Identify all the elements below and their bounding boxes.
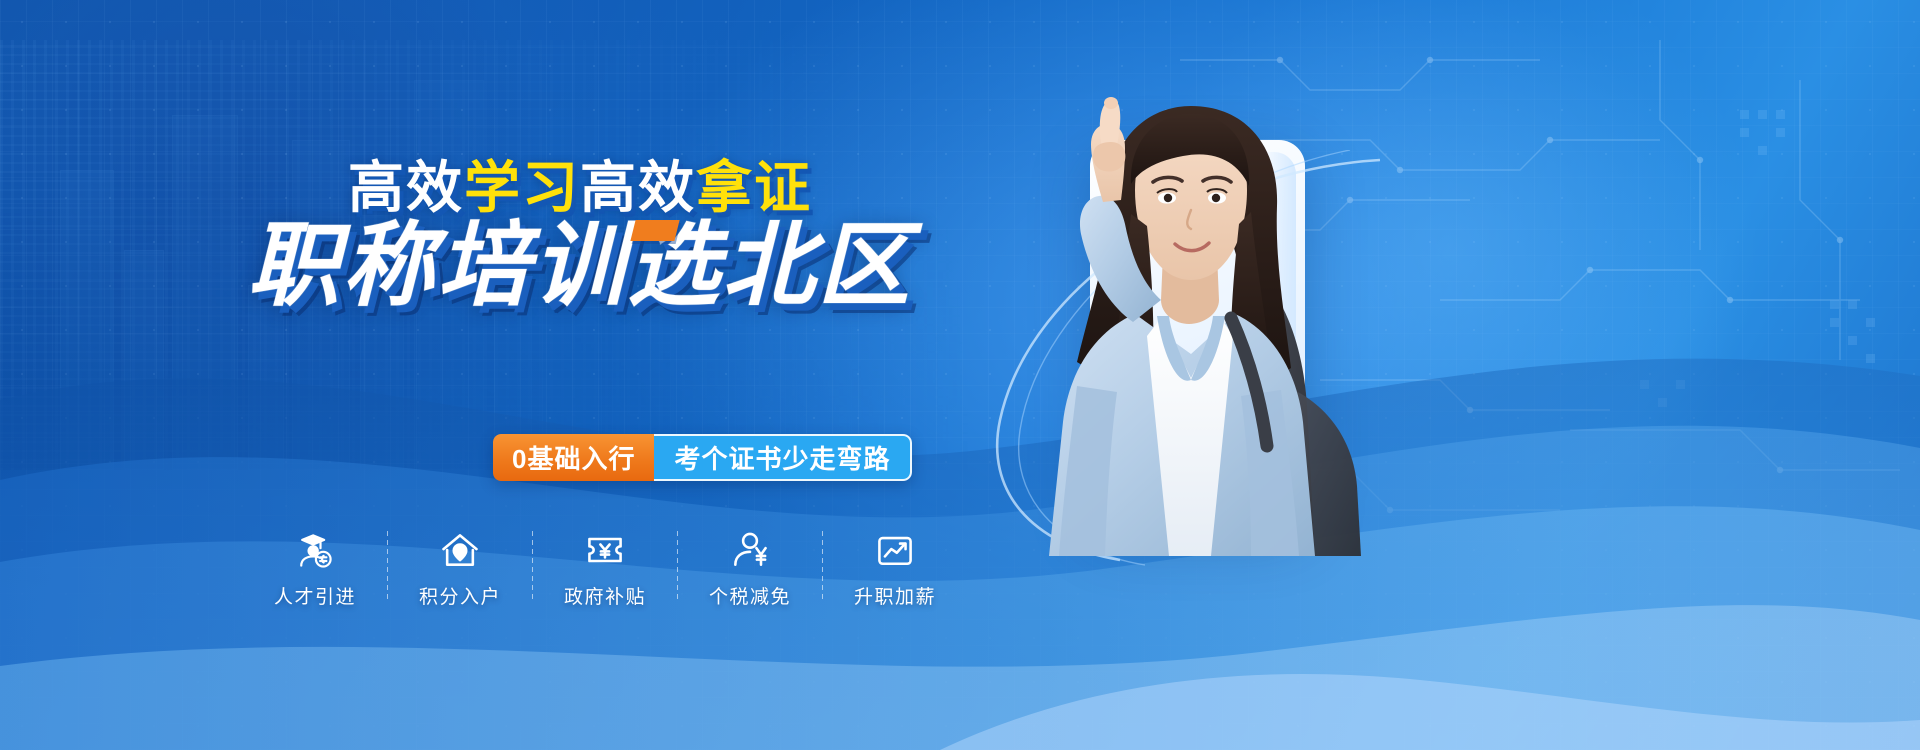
house-location-pin-icon (437, 527, 483, 573)
headline-block: 高效学习高效拿证 职称培训选北区 0基础入行 考个证书少走弯路 (0, 0, 1160, 750)
badge-tag: 0基础入行 (493, 434, 654, 481)
feature-item-0[interactable]: 人才引进 (255, 527, 375, 609)
feature-divider-2 (677, 531, 678, 603)
feature-item-3[interactable]: 个税减免 (690, 527, 810, 609)
headline-main-wrap: 职称培训选北区 (0, 218, 1160, 328)
orange-accent-mark (631, 220, 680, 241)
feature-divider-3 (822, 531, 823, 603)
headline-small-seg-2: 高效 (580, 156, 696, 219)
feature-item-1[interactable]: 积分入户 (400, 527, 520, 609)
feature-divider-0 (387, 531, 388, 603)
subtitle-badge[interactable]: 0基础入行 考个证书少走弯路 (493, 434, 912, 481)
feature-item-4[interactable]: 升职加薪 (835, 527, 955, 609)
feature-label-0: 人才引进 (274, 582, 356, 609)
headline-small-seg-3: 拿证 (696, 156, 812, 219)
headline-small-seg-1: 学习 (464, 156, 580, 219)
growth-chart-icon (872, 527, 918, 573)
promo-banner: 高效学习高效拿证 职称培训选北区 0基础入行 考个证书少走弯路 (0, 0, 1920, 750)
feature-item-2[interactable]: 政府补贴 (545, 527, 665, 609)
badge-text: 考个证书少走弯路 (654, 434, 912, 481)
feature-label-2: 政府补贴 (564, 582, 646, 609)
ticket-yuan-icon (582, 527, 628, 573)
feature-divider-1 (532, 531, 533, 603)
headline-small-seg-0: 高效 (348, 156, 464, 219)
headline-main-text: 职称培训选北区 (247, 215, 912, 317)
feature-list: 人才引进 积分入户 (255, 527, 955, 627)
feature-label-1: 积分入户 (419, 582, 501, 609)
feature-label-4: 升职加薪 (854, 582, 936, 609)
graduation-cap-person-icon (292, 527, 338, 573)
feature-label-3: 个税减免 (709, 582, 791, 609)
headline-small: 高效学习高效拿证 (0, 160, 1160, 216)
person-yuan-icon (727, 527, 773, 573)
headline-main: 职称培训选北区 (247, 218, 912, 315)
